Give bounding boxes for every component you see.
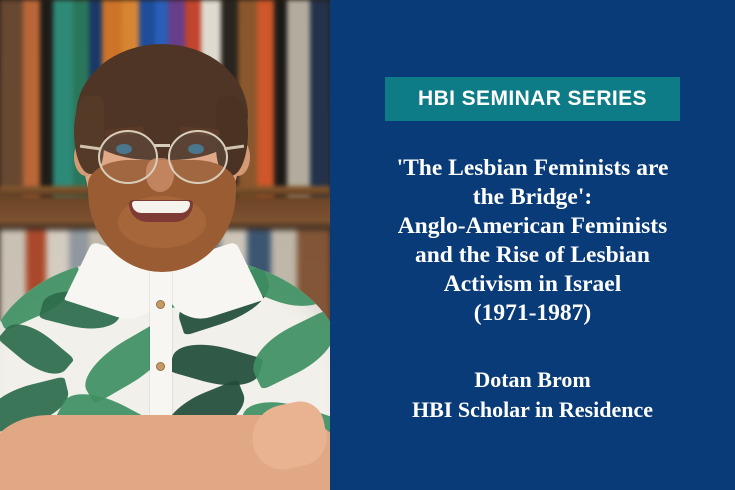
speaker-photo: [0, 0, 330, 490]
seminar-poster: HBI SEMINAR SERIES 'The Lesbian Feminist…: [0, 0, 735, 490]
title-line: Activism in Israel: [397, 270, 669, 299]
eyeglasses-icon: [82, 126, 244, 182]
glasses-temple-left: [80, 145, 100, 150]
teeth: [132, 201, 190, 213]
speaker-role: HBI Scholar in Residence: [412, 395, 653, 425]
seminar-title: 'The Lesbian Feminists are the Bridge': …: [397, 154, 669, 328]
title-line: and the Rise of Lesbian: [397, 241, 669, 270]
lens-right: [168, 130, 228, 184]
shirt-button: [156, 362, 165, 371]
person-figure: [0, 0, 330, 490]
title-line: the Bridge':: [397, 183, 669, 212]
speaker-block: Dotan Brom HBI Scholar in Residence: [412, 365, 653, 425]
speaker-name: Dotan Brom: [412, 365, 653, 395]
glasses-bridge: [154, 144, 170, 147]
series-badge-label: HBI SEMINAR SERIES: [418, 87, 647, 111]
smiling-mouth: [129, 200, 193, 222]
poster-text-panel: HBI SEMINAR SERIES 'The Lesbian Feminist…: [330, 0, 735, 490]
series-badge: HBI SEMINAR SERIES: [385, 77, 680, 121]
title-line: (1971-1987): [397, 299, 669, 328]
shirt-button: [156, 300, 165, 309]
title-line: 'The Lesbian Feminists are: [397, 154, 669, 183]
title-line: Anglo-American Feminists: [397, 212, 669, 241]
glasses-temple-right: [224, 145, 244, 150]
lens-left: [98, 130, 158, 184]
